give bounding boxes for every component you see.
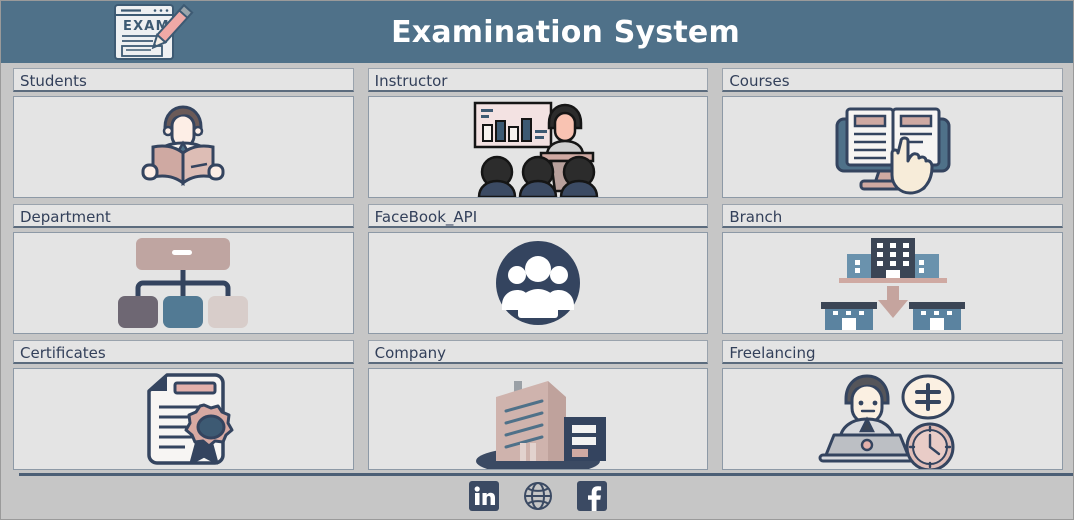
exam-paper-pencil-icon: EXAM — [105, 3, 197, 61]
card-image-freelancing[interactable] — [722, 368, 1063, 470]
card-department[interactable]: Department — [13, 204, 354, 340]
module-grid: Students — [1, 63, 1074, 471]
footer-social-links — [1, 471, 1074, 520]
card-facebook-api[interactable]: FaceBook_API — [368, 204, 709, 340]
app-header: EXAM Examination System — [1, 1, 1074, 63]
card-label-branch: Branch — [722, 204, 1063, 228]
certificate-seal-icon — [123, 369, 243, 469]
card-label-facebook-api: FaceBook_API — [368, 204, 709, 228]
card-image-department[interactable] — [13, 232, 354, 334]
card-label-students: Students — [13, 68, 354, 92]
card-students[interactable]: Students — [13, 68, 354, 204]
group-people-circle-icon — [488, 233, 588, 333]
card-label-freelancing: Freelancing — [722, 340, 1063, 364]
card-label-instructor: Instructor — [368, 68, 709, 92]
open-book-hand-pointer-icon — [823, 97, 963, 197]
org-chart-hierarchy-icon — [108, 234, 258, 332]
page-title: Examination System — [206, 15, 925, 50]
card-image-instructor[interactable] — [368, 96, 709, 198]
card-label-courses: Courses — [722, 68, 1063, 92]
card-image-courses[interactable] — [722, 96, 1063, 198]
card-image-students[interactable] — [13, 96, 354, 198]
card-image-facebook-api[interactable] — [368, 232, 709, 334]
website-globe-icon[interactable] — [523, 481, 553, 511]
student-reading-book-icon — [123, 97, 243, 197]
card-label-company: Company — [368, 340, 709, 364]
card-label-certificates: Certificates — [13, 340, 354, 364]
card-freelancing[interactable]: Freelancing — [722, 340, 1063, 476]
card-image-branch[interactable] — [722, 232, 1063, 334]
office-building-icon — [468, 369, 608, 469]
app-logo: EXAM — [96, 3, 206, 61]
card-image-certificates[interactable] — [13, 368, 354, 470]
card-label-department: Department — [13, 204, 354, 228]
card-branch[interactable]: Branch — [722, 204, 1063, 340]
headquarters-branches-arrow-icon — [813, 234, 973, 332]
card-certificates[interactable]: Certificates — [13, 340, 354, 476]
freelancer-laptop-coin-clock-icon — [818, 369, 968, 469]
instructor-lecture-icon — [463, 97, 613, 197]
card-courses[interactable]: Courses — [722, 68, 1063, 204]
card-instructor[interactable]: Instructor — [368, 68, 709, 204]
examination-system-window: EXAM Examination System Students — [0, 0, 1074, 520]
linkedin-icon[interactable] — [469, 481, 499, 511]
facebook-icon[interactable] — [577, 481, 607, 511]
card-company[interactable]: Company — [368, 340, 709, 476]
card-image-company[interactable] — [368, 368, 709, 470]
